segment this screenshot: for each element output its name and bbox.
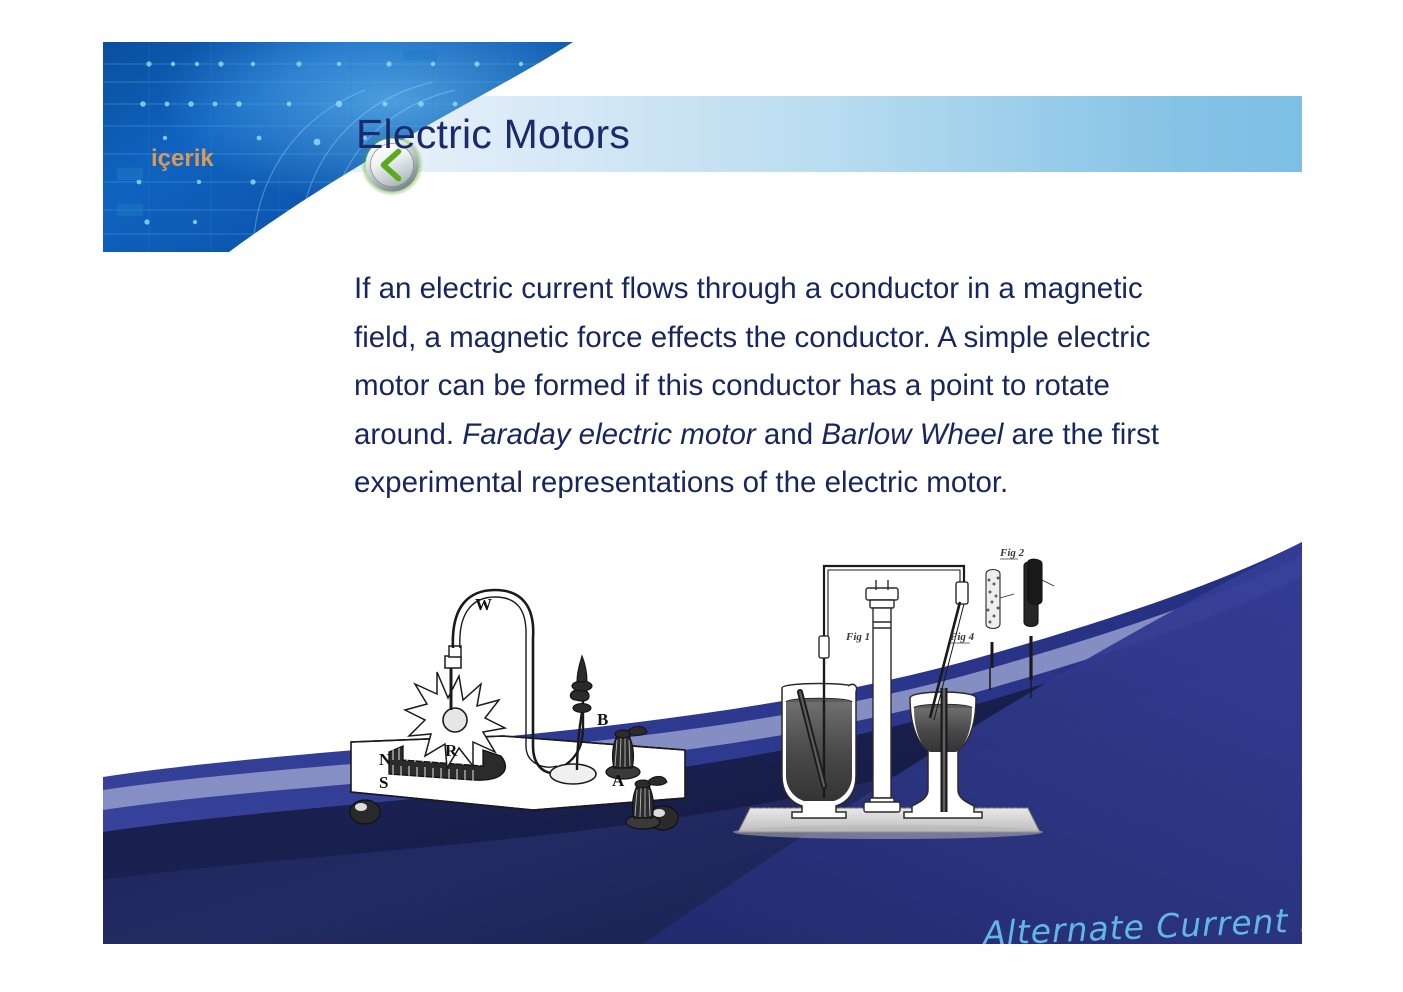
footer-script-text: Alternate Current Machines [982, 897, 1302, 944]
presentation-slide: içerik [103, 42, 1302, 944]
figure-barlow-wheel: W R N S B A [333, 560, 703, 860]
body-line-4: around. Faraday electric motor and Barlo… [354, 411, 1302, 460]
logo-text: içerik [151, 145, 214, 172]
figure-right-label-fig4: Fig 4 [949, 631, 975, 643]
term-faraday-electric-motor: Faraday electric motor [462, 418, 755, 451]
term-barlow-wheel: Barlow Wheel [821, 418, 1003, 451]
body-line-1: If an electric current flows through a c… [354, 265, 1302, 314]
figure-left-label-n: N [379, 750, 392, 769]
slide-page: içerik [0, 0, 1403, 992]
body-line-2: field, a magnetic force effects the cond… [354, 314, 1302, 363]
body-line-4-pre: around. [354, 418, 462, 451]
figure-left-label-w: W [475, 595, 492, 614]
figure-left-label-s: S [379, 773, 388, 792]
page-title: Electric Motors [356, 98, 1056, 170]
figure-left-label-a: A [612, 771, 625, 790]
figure-right-label-fig1: Fig 1 [845, 631, 870, 643]
figure-left-label-b: B [597, 710, 608, 729]
figure-faraday-motor: Fig 1 Fig 4 Fig 2 [728, 540, 1058, 852]
body-line-5: experimental representations of the elec… [354, 459, 1302, 508]
figure-left-label-r: R [445, 741, 458, 760]
body-line-4-post: are the first [1003, 418, 1159, 451]
body-line-4-mid: and [756, 418, 822, 451]
slide-body-text: If an electric current flows through a c… [354, 265, 1302, 508]
body-line-3: motor can be formed if this conductor ha… [354, 362, 1302, 411]
figure-right-label-fig2: Fig 2 [999, 547, 1025, 559]
